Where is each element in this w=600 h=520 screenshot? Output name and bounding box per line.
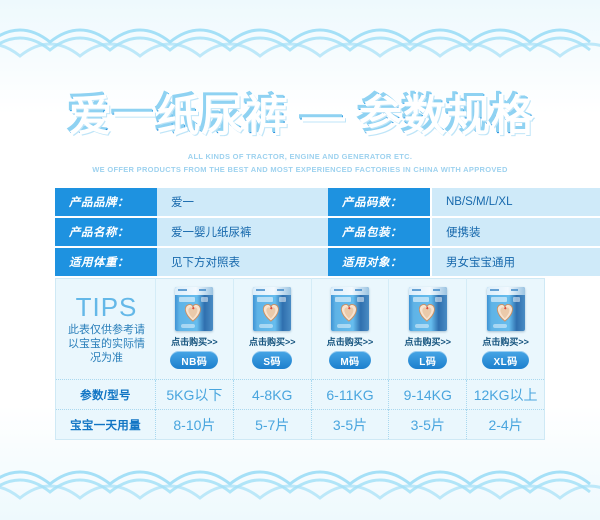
buy-link-label[interactable]: 点击购买>> — [467, 335, 544, 348]
product-cell-nb[interactable]: 点击购买>> NB码 — [156, 279, 234, 380]
product-cell-l[interactable]: 点击购买>> L码 — [389, 279, 467, 380]
spec-value: 男女宝宝通用 — [431, 247, 600, 276]
row-label-daily: 宝宝一天用量 — [56, 410, 156, 440]
diaper-package-icon — [487, 287, 525, 331]
spec-label: 适用对象： — [328, 247, 431, 276]
page-header: 爱一纸尿裤 — 参数规格 ALL KINDS OF TRACTOR, ENGIN… — [0, 92, 600, 176]
spec-label: 产品品牌： — [55, 188, 157, 217]
spec-value: NB/S/M/L/XL — [431, 188, 600, 217]
spec-value: 爱一婴儿纸尿裤 — [157, 217, 328, 247]
table-row: 适用体重： 见下方对照表 适用对象： 男女宝宝通用 — [55, 247, 600, 276]
size-badge: XL码 — [482, 351, 528, 369]
weight-value: 12KG以上 — [467, 380, 545, 410]
table-row-weight: 参数/型号 5KG以下 4-8KG 6-11KG 9-14KG 12KG以上 — [56, 380, 545, 410]
heart-swirl-icon — [338, 302, 360, 322]
page-subtitle: ALL KINDS OF TRACTOR, ENGINE AND GENERAT… — [0, 151, 600, 176]
spec-value: 爱一 — [157, 188, 328, 217]
diaper-package-icon — [331, 287, 369, 331]
product-cell-s[interactable]: 点击购买>> S码 — [233, 279, 311, 380]
weight-value: 5KG以下 — [156, 380, 234, 410]
buy-link-label[interactable]: 点击购买>> — [156, 335, 233, 348]
spec-label: 产品名称： — [55, 217, 157, 247]
weight-value: 9-14KG — [389, 380, 467, 410]
tips-body: 此表仅供参考请以宝宝的实际情况为准 — [64, 324, 149, 365]
product-spec-page: 爱一纸尿裤 — 参数规格 ALL KINDS OF TRACTOR, ENGIN… — [0, 0, 600, 520]
heart-swirl-icon — [260, 302, 282, 322]
tips-panel: TIPS 此表仅供参考请以宝宝的实际情况为准 — [56, 279, 156, 380]
daily-value: 3-5片 — [311, 410, 389, 440]
size-chart-table: TIPS 此表仅供参考请以宝宝的实际情况为准 点击购买>> NB码 — [55, 278, 545, 440]
page-title: 爱一纸尿裤 — 参数规格 — [0, 92, 600, 139]
heart-swirl-icon — [182, 302, 204, 322]
wave-border-top-icon — [0, 16, 600, 64]
tips-title: TIPS — [64, 294, 149, 320]
product-cell-xl[interactable]: 点击购买>> XL码 — [467, 279, 545, 380]
spec-label: 适用体重： — [55, 247, 157, 276]
diaper-package-icon — [409, 287, 447, 331]
product-cell-m[interactable]: 点击购买>> M码 — [311, 279, 389, 380]
product-row: TIPS 此表仅供参考请以宝宝的实际情况为准 点击购买>> NB码 — [56, 279, 545, 380]
table-row: 产品品牌： 爱一 产品码数： NB/S/M/L/XL — [55, 188, 600, 217]
daily-value: 3-5片 — [389, 410, 467, 440]
diaper-package-icon — [175, 287, 213, 331]
buy-link-label[interactable]: 点击购买>> — [389, 335, 466, 348]
daily-value: 2-4片 — [467, 410, 545, 440]
subtitle-line-2: WE OFFER PRODUCTS FROM THE BEST AND MOST… — [0, 164, 600, 176]
spec-label: 产品包装： — [328, 217, 431, 247]
heart-swirl-icon — [416, 302, 438, 322]
heart-swirl-icon — [493, 302, 515, 322]
table-row-daily: 宝宝一天用量 8-10片 5-7片 3-5片 3-5片 2-4片 — [56, 410, 545, 440]
spec-value: 见下方对照表 — [157, 247, 328, 276]
daily-value: 5-7片 — [233, 410, 311, 440]
weight-value: 6-11KG — [311, 380, 389, 410]
subtitle-line-1: ALL KINDS OF TRACTOR, ENGINE AND GENERAT… — [0, 151, 600, 163]
wave-border-bottom-icon — [0, 458, 600, 506]
size-badge: NB码 — [170, 351, 218, 369]
weight-value: 4-8KG — [233, 380, 311, 410]
buy-link-label[interactable]: 点击购买>> — [312, 335, 389, 348]
size-badge: M码 — [329, 351, 370, 369]
size-badge: L码 — [408, 351, 447, 369]
daily-value: 8-10片 — [156, 410, 234, 440]
size-badge: S码 — [252, 351, 292, 369]
buy-link-label[interactable]: 点击购买>> — [234, 335, 311, 348]
spec-table: 产品品牌： 爱一 产品码数： NB/S/M/L/XL 产品名称： 爱一婴儿纸尿裤… — [55, 188, 600, 276]
spec-value: 便携装 — [431, 217, 600, 247]
spec-label: 产品码数： — [328, 188, 431, 217]
diaper-package-icon — [253, 287, 291, 331]
table-row: 产品名称： 爱一婴儿纸尿裤 产品包装： 便携装 — [55, 217, 600, 247]
row-label-spec: 参数/型号 — [56, 380, 156, 410]
